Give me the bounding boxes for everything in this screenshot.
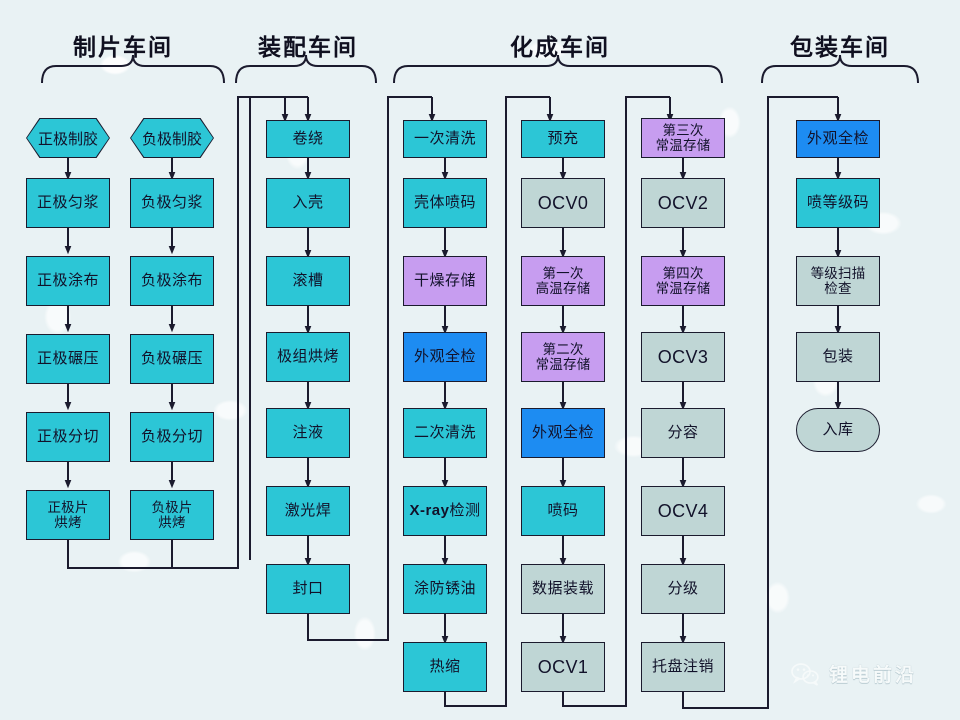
node-appearance-inspection-formation[interactable]: 外观全检 [521, 408, 605, 458]
node-ocv2[interactable]: OCV2 [641, 178, 725, 228]
group-label-zhuangpei: 装配车间 [258, 28, 358, 62]
node-precharge[interactable]: 预充 [521, 120, 605, 158]
node-anode-slurry[interactable]: 负极匀浆 [130, 178, 214, 228]
node-label: 正极制胶 [27, 119, 109, 157]
node-third-room-temp-storage[interactable]: 第三次 常温存储 [641, 118, 725, 158]
node-first-high-temp-storage[interactable]: 第一次 高温存储 [521, 256, 605, 306]
node-xray-inspection[interactable]: X-ray检测 [403, 486, 487, 536]
node-sorting[interactable]: 分级 [641, 564, 725, 614]
node-cathode-slurry[interactable]: 正极匀浆 [26, 178, 110, 228]
node-cathode-pressing[interactable]: 正极碾压 [26, 334, 110, 384]
wechat-icon [790, 662, 820, 686]
watermark-text: 锂电前沿 [829, 660, 917, 687]
node-anode-pressing[interactable]: 负极碾压 [130, 334, 214, 384]
node-first-cleaning[interactable]: 一次清洗 [403, 120, 487, 158]
node-second-room-temp-storage[interactable]: 第二次 常温存储 [521, 332, 605, 382]
node-anti-rust-oil[interactable]: 涂防锈油 [403, 564, 487, 614]
node-cathode-slitting[interactable]: 正极分切 [26, 412, 110, 462]
node-code-marking[interactable]: 喷码 [521, 486, 605, 536]
node-grade-code-marking[interactable]: 喷等级码 [796, 178, 880, 228]
node-laser-welding[interactable]: 激光焊 [266, 486, 350, 536]
node-ocv0[interactable]: OCV0 [521, 178, 605, 228]
node-cathode-glue[interactable]: 正极制胶 [26, 118, 110, 158]
node-cathode-coating[interactable]: 正极涂布 [26, 256, 110, 306]
node-dry-storage[interactable]: 干燥存储 [403, 256, 487, 306]
node-packaging[interactable]: 包装 [796, 332, 880, 382]
node-capacity-grading[interactable]: 分容 [641, 408, 725, 458]
group-label-zhipian: 制片车间 [73, 28, 173, 62]
node-label: 负极制胶 [131, 119, 213, 157]
node-grade-scan-check[interactable]: 等级扫描 检查 [796, 256, 880, 306]
node-shell-marking[interactable]: 壳体喷码 [403, 178, 487, 228]
node-ocv4[interactable]: OCV4 [641, 486, 725, 536]
node-into-shell[interactable]: 入壳 [266, 178, 350, 228]
node-appearance-inspection-packaging[interactable]: 外观全检 [796, 120, 880, 158]
node-appearance-inspection-clean[interactable]: 外观全检 [403, 332, 487, 382]
group-label-baozhuang: 包装车间 [790, 28, 890, 62]
node-winding[interactable]: 卷绕 [266, 120, 350, 158]
node-fourth-room-temp-storage[interactable]: 第四次 常温存储 [641, 256, 725, 306]
node-anode-slitting[interactable]: 负极分切 [130, 412, 214, 462]
node-cell-baking[interactable]: 极组烘烤 [266, 332, 350, 382]
group-label-huacheng: 化成车间 [510, 28, 610, 62]
flowchart-canvas: 制片车间 装配车间 化成车间 包装车间 正极制胶 正极匀浆 正极涂布 正极碾压 … [0, 0, 960, 720]
node-anode-baking[interactable]: 负极片 烘烤 [130, 490, 214, 540]
node-second-cleaning[interactable]: 二次清洗 [403, 408, 487, 458]
node-ocv1[interactable]: OCV1 [521, 642, 605, 692]
node-heat-shrink[interactable]: 热缩 [403, 642, 487, 692]
node-grooving[interactable]: 滚槽 [266, 256, 350, 306]
node-sealing[interactable]: 封口 [266, 564, 350, 614]
node-cathode-baking[interactable]: 正极片 烘烤 [26, 490, 110, 540]
node-anode-glue[interactable]: 负极制胶 [130, 118, 214, 158]
node-warehousing[interactable]: 入库 [796, 408, 880, 452]
node-tray-cancellation[interactable]: 托盘注销 [641, 642, 725, 692]
watermark: 锂电前沿 [790, 660, 917, 687]
node-data-loading[interactable]: 数据装载 [521, 564, 605, 614]
node-electrolyte-filling[interactable]: 注液 [266, 408, 350, 458]
node-ocv3[interactable]: OCV3 [641, 332, 725, 382]
node-anode-coating[interactable]: 负极涂布 [130, 256, 214, 306]
